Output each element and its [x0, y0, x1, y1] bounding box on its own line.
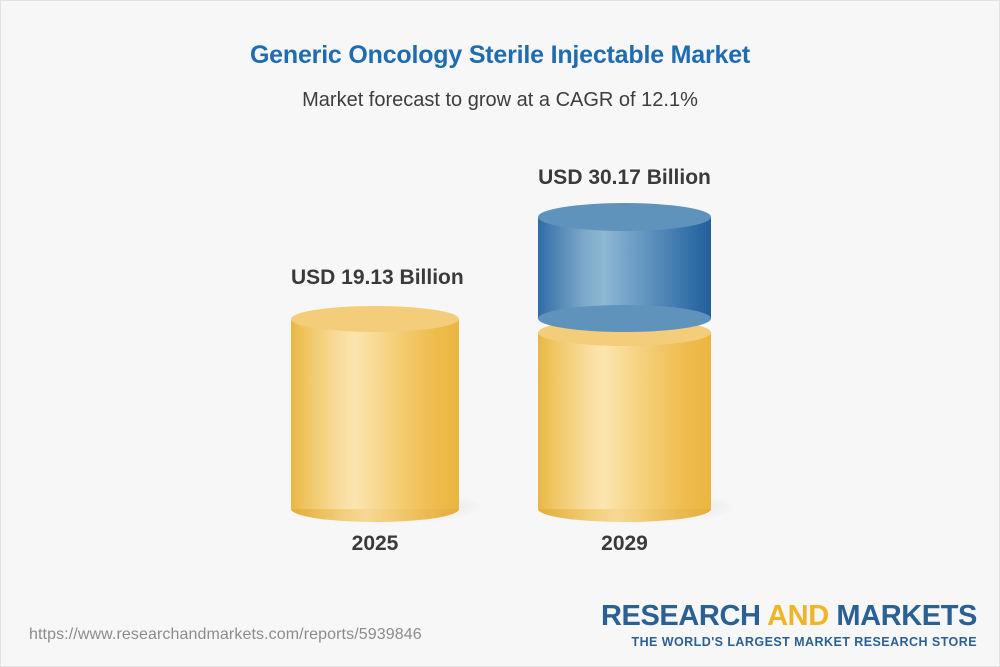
- category-label-2025: 2025: [291, 532, 459, 556]
- bar-2025-body: [291, 319, 459, 509]
- bar-2029-base-segment[interactable]: [538, 319, 711, 509]
- brand-tagline: THE WORLD'S LARGEST MARKET RESEARCH STOR…: [601, 636, 977, 649]
- brand-name-part1: RESEARCH: [601, 600, 767, 632]
- brand-logo: RESEARCH AND MARKETS THE WORLD'S LARGEST…: [601, 602, 977, 649]
- source-url[interactable]: https://www.researchandmarkets.com/repor…: [29, 626, 422, 644]
- bar-2029-growth-body: [538, 217, 711, 319]
- chart-canvas: Generic Oncology Sterile Injectable Mark…: [0, 0, 1000, 667]
- brand-name-part2: MARKETS: [829, 600, 977, 632]
- bar-2025[interactable]: [291, 306, 459, 509]
- plot-area: USD 19.13 Billion 2025 USD 30.17 Billion: [1, 1, 1000, 667]
- category-label-2029: 2029: [538, 532, 711, 556]
- brand-name: RESEARCH AND MARKETS: [601, 602, 977, 631]
- bar-2025-top-cap: [291, 306, 459, 332]
- bar-2029-growth-top-cap: [538, 203, 711, 231]
- data-label-2025: USD 19.13 Billion: [291, 266, 459, 290]
- brand-name-and: AND: [767, 600, 829, 632]
- bar-2029-growth-bottom-cap: [538, 305, 711, 332]
- bar-2029-growth-segment[interactable]: [538, 203, 711, 332]
- bar-2029-base-body: [538, 332, 711, 509]
- data-label-2029: USD 30.17 Billion: [538, 166, 711, 190]
